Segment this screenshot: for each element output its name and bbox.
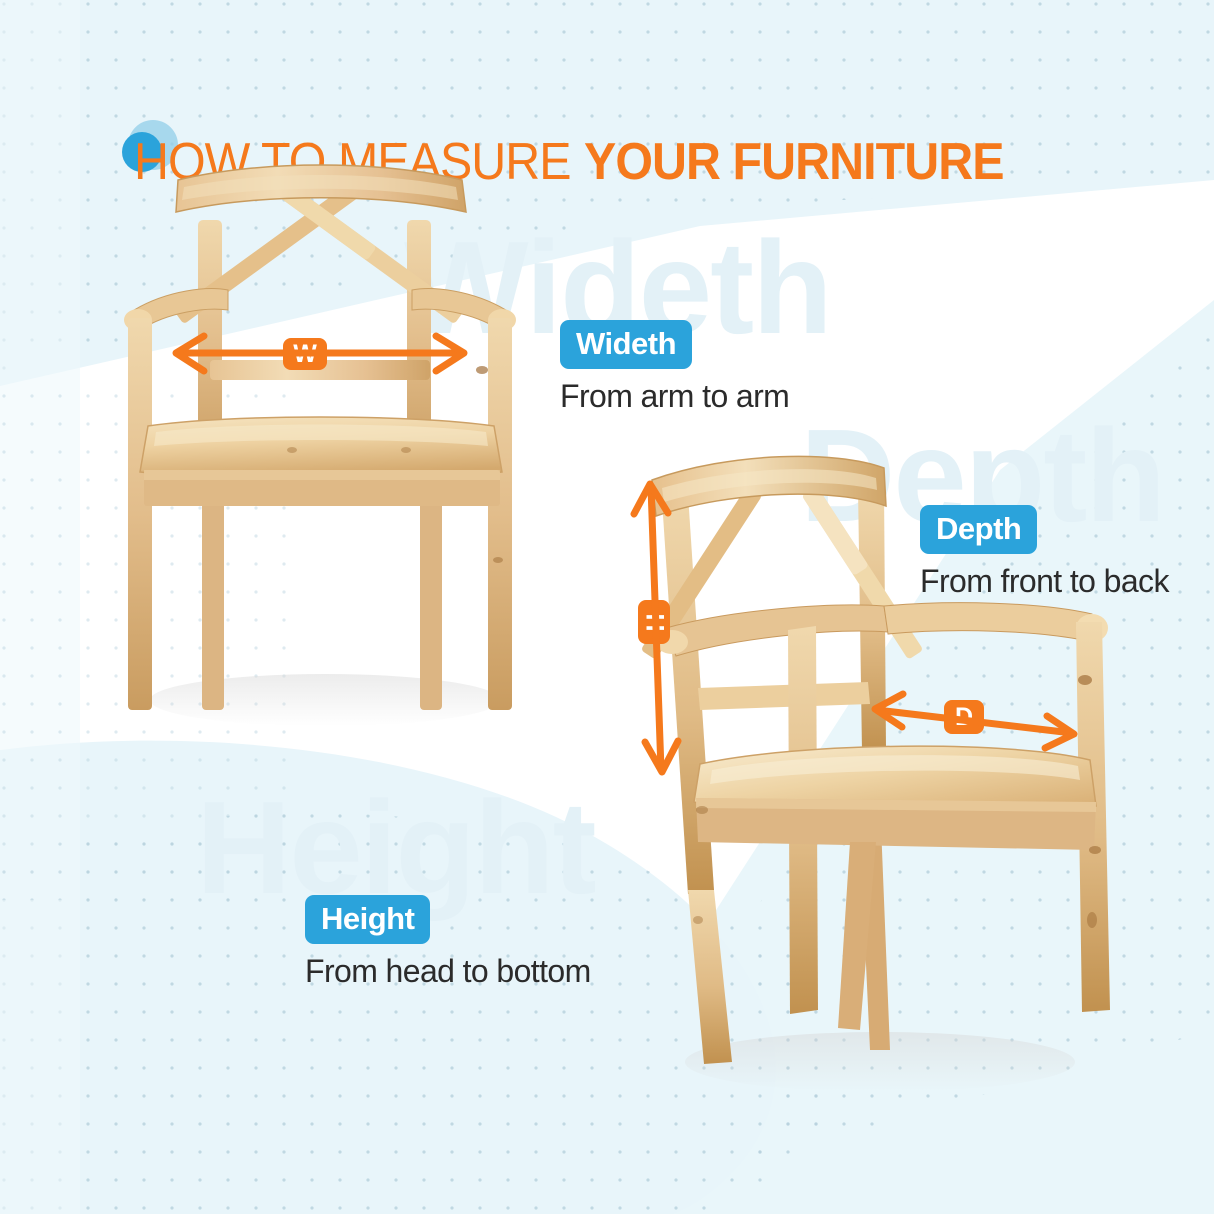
header: HOW TO MEASURE YOUR FURNITURE	[0, 60, 1214, 134]
infographic-canvas: Wideth Depth Height HOW TO MEASURE YOUR …	[0, 0, 1214, 1214]
callout-depth-description: From front to back	[920, 563, 1169, 599]
callout-width: Wideth From arm to arm	[560, 320, 789, 414]
callout-width-description: From arm to arm	[560, 378, 789, 414]
depth-marker-letter: D	[944, 700, 984, 734]
width-marker-letter: W	[283, 338, 327, 370]
height-marker-text: H	[640, 613, 669, 631]
callout-height-description: From head to bottom	[305, 953, 591, 989]
callout-depth: Depth From front to back	[920, 505, 1169, 599]
badge-height: Height	[305, 895, 430, 944]
page-title-bold: YOUR FURNITURE	[584, 133, 1004, 191]
chair-front-view-illustration	[110, 160, 530, 780]
width-marker-text: W	[293, 340, 317, 369]
depth-marker-text: D	[955, 703, 973, 732]
callout-height: Height From head to bottom	[305, 895, 591, 989]
badge-depth: Depth	[920, 505, 1037, 554]
height-marker-letter: H	[638, 600, 670, 644]
badge-width: Wideth	[560, 320, 692, 369]
